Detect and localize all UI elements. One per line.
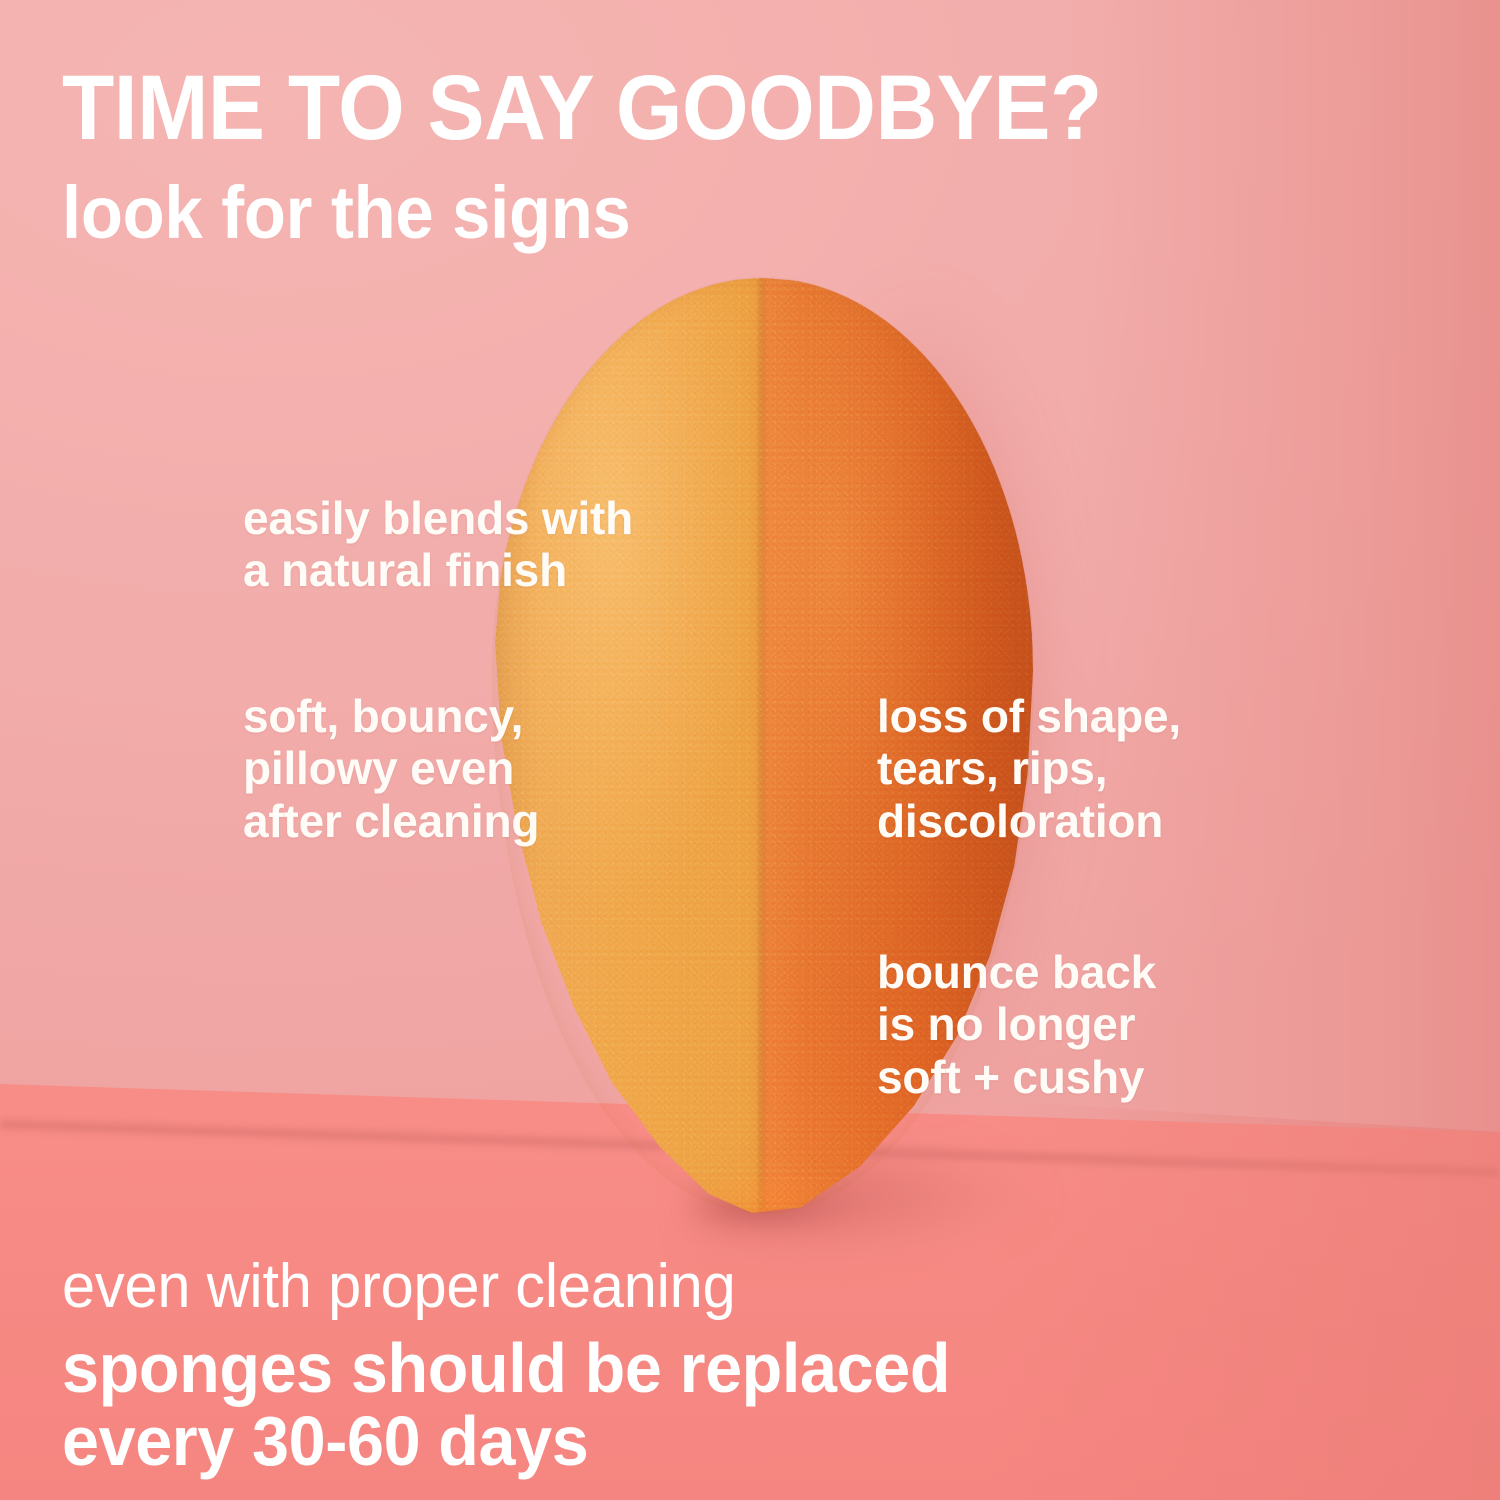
footer-line-2: sponges should be replaced every 30-60 d… (62, 1332, 950, 1478)
callout-bad-bounce-back: bounce back is no longer soft + cushy (877, 946, 1156, 1103)
callout-good-blends: easily blends with a natural finish (243, 492, 633, 597)
callout-bad-loss-of-shape: loss of shape, tears, rips, discoloratio… (877, 690, 1181, 847)
footer-line-1: even with proper cleaning (62, 1256, 959, 1318)
footer-message: even with proper cleaning sponges should… (62, 1256, 997, 1478)
callout-good-soft: soft, bouncy, pillowy even after cleanin… (243, 690, 539, 847)
page-subtitle: look for the signs (62, 176, 631, 250)
infographic-canvas: TIME TO SAY GOODBYE? look for the signs … (0, 0, 1500, 1500)
page-title: TIME TO SAY GOODBYE? (62, 66, 1102, 151)
